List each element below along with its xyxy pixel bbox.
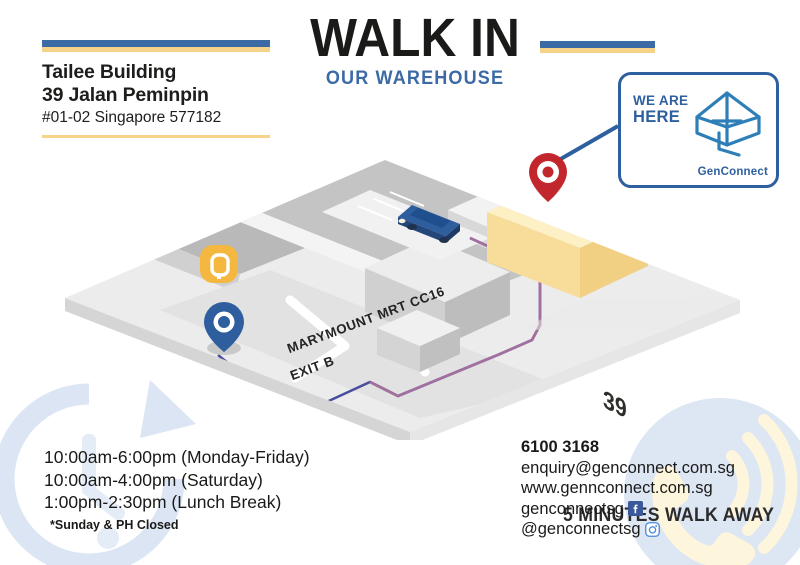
address-line-2: 39 Jalan Peminpin: [42, 84, 270, 107]
page-subtitle: OUR WAREHOUSE: [306, 68, 525, 90]
contact-website[interactable]: www.gennconnect.com.sg: [521, 478, 735, 499]
contact-email[interactable]: enquiry@genconnect.com.sg: [521, 458, 735, 479]
opening-hours-block: 10:00am-6:00pm (Monday-Friday) 10:00am-4…: [44, 446, 310, 532]
divider-blue-top: [42, 40, 270, 47]
contact-facebook-row[interactable]: genconnectsg: [521, 499, 735, 520]
isometric-map: MARYMOUNT MRT CC16 EXIT B 39 5 MINUTES W…: [40, 150, 780, 440]
blue-location-pin-icon: [204, 302, 244, 355]
hours-saturday: 10:00am-4:00pm (Saturday): [44, 469, 310, 492]
poster-title-group: WALK IN OUR WAREHOUSE: [300, 12, 530, 90]
divider-right-group: [540, 41, 655, 53]
hours-lunch: 1:00pm-2:30pm (Lunch Break): [44, 491, 310, 514]
we-are-here-label: WE ARE HERE: [633, 93, 688, 125]
contact-phone: 6100 3168: [521, 437, 735, 458]
divider-blue-right: [540, 41, 655, 48]
poster-canvas: Tailee Building 39 Jalan Peminpin #01-02…: [0, 0, 800, 565]
divider-yellow-top: [42, 47, 270, 52]
we-are-here-line-2: HERE: [633, 109, 688, 125]
address-block: Tailee Building 39 Jalan Peminpin #01-02…: [42, 40, 270, 138]
hours-note: *Sunday & PH Closed: [50, 518, 310, 532]
contact-instagram-row[interactable]: @genconnectsg: [521, 519, 735, 540]
instagram-icon[interactable]: [645, 522, 660, 537]
divider-yellow-right: [540, 48, 655, 53]
contact-block: 6100 3168 enquiry@genconnect.com.sg www.…: [521, 437, 735, 540]
open-box-icon: [689, 87, 765, 159]
we-are-here-line-1: WE ARE: [633, 93, 688, 109]
address-line-3: #01-02 Singapore 577182: [42, 108, 270, 128]
address-line-1: Tailee Building: [42, 61, 270, 84]
hours-weekday: 10:00am-6:00pm (Monday-Friday): [44, 446, 310, 469]
divider-yellow-bottom: [42, 135, 270, 138]
facebook-icon[interactable]: [628, 501, 643, 516]
mrt-station-icon: [200, 245, 238, 283]
page-title: WALK IN: [309, 12, 521, 64]
contact-instagram-handle: @genconnectsg: [521, 519, 641, 540]
red-location-pin-icon: [529, 153, 567, 202]
contact-facebook-handle: genconnectsg: [521, 499, 624, 520]
